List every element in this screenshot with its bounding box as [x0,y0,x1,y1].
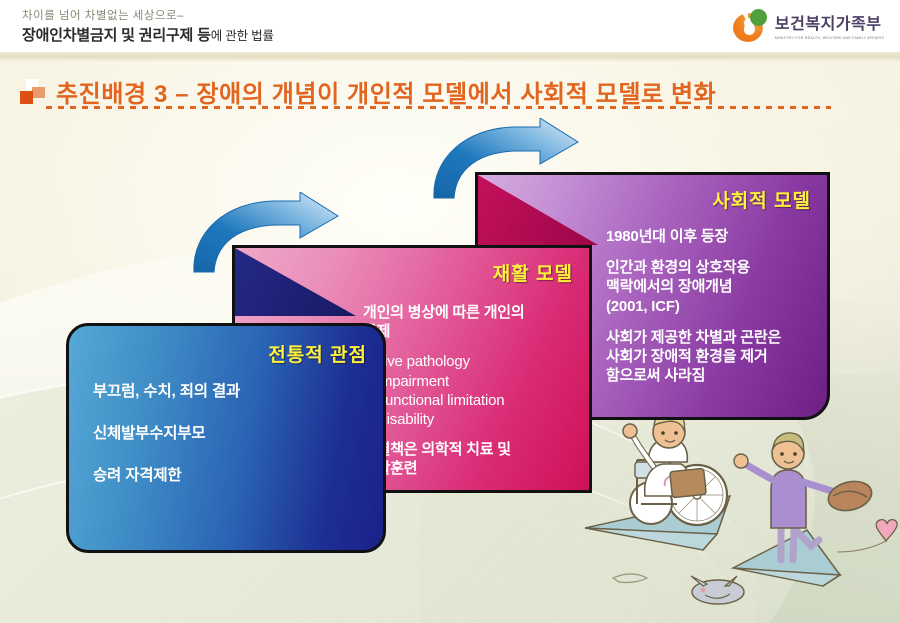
title-dashed-underline [46,106,831,109]
social-line-2b: 맥락에서의 장애개념 [606,277,824,296]
ground-mark [613,574,647,583]
social-line-3a: 사회가 제공한 차별과 곤란은 [606,328,824,347]
bullet-square-light [32,87,45,98]
card-traditional-title: 전통적 관점 [268,340,367,367]
rehab-pathology-item-2: ⇨ Functional limitation [363,391,587,410]
rehab-para-3: 해결책은 의학적 치료 및 재활훈련 [363,440,587,478]
header-separator-band [0,52,900,61]
social-line-2a: 인간과 환경의 상호작용 [606,258,824,277]
kite-shape [837,520,897,552]
orange-square-bullet-icon [18,79,46,105]
ministry-logo: 보건복지가족부 MINISTRY FOR HEALTH, WELFARE AND… [733,8,884,42]
rehab-line-1a: 개인의 병상에 따른 개인의 [363,303,587,322]
card-traditional-body: 부끄럼, 수치, 죄의 결과 신체발부수지부모 승려 자격제한 [93,382,375,507]
card-social-body: 1980년대 이후 등장 인간과 환경의 상호작용 맥락에서의 장애개념 (20… [606,227,824,397]
social-para-3: 사회가 제공한 차별과 곤란은 사회가 장애적 환경을 제거 함으로써 사라짐 [606,328,824,386]
curved-blue-arrow-icon [428,118,603,200]
social-line-3b: 사회가 장애적 환경을 제거 [606,347,824,366]
rehab-pathology-head: Active pathology [363,352,587,371]
social-para-2: 인간과 환경의 상호작용 맥락에서의 장애개념 (2001, ICF) [606,258,824,316]
header-law-title-light: 에 관한 법률 [211,29,274,43]
rehab-item-label-2: Functional limitation [376,392,504,409]
header-law-title-bold: 장애인차별금지 및 권리구제 등 [22,27,211,44]
card-rehab-title: 재활 모델 [493,259,573,286]
rehab-para-1: 개인의 병상에 따른 개인의 문제 [363,303,587,341]
rehab-item-label-1: Impairment [376,373,449,390]
toy-plane [691,576,744,604]
traditional-line-1: 부끄럼, 수치, 죄의 결과 [93,382,375,402]
curved-blue-arrow-icon [188,192,363,274]
rehab-para-2: Active pathology ⇨ Impairment ⇨ Function… [363,352,587,429]
ministry-logo-icon [733,8,767,42]
ministry-name-korean: 보건복지가족부 [775,10,884,34]
slide-header: 차이를 넘어 차별없는 세상으로– 장애인차별금지 및 권리구제 등에 관한 법… [0,0,900,52]
ministry-logo-text: 보건복지가족부 MINISTRY FOR HEALTH, WELFARE AND… [775,10,884,40]
header-law-title: 장애인차별금지 및 권리구제 등에 관한 법률 [22,24,274,45]
logo-green-circle [750,9,767,26]
social-para-1: 1980년대 이후 등장 [606,227,824,246]
social-line-3c: 함으로써 사라짐 [606,366,824,385]
traditional-line-3: 승려 자격제한 [93,466,375,486]
person-standing [734,433,875,560]
page-title: 추진배경 3 – 장애의 개념이 개인적 모델에서 사회적 모델로 변화 [56,74,716,109]
people-on-paper-planes-illustration [585,400,900,623]
rehab-pathology-item-1: ⇨ Impairment [363,372,587,391]
slide-title-row: 추진배경 3 – 장애의 개념이 개인적 모델에서 사회적 모델로 변화 [18,74,716,109]
rehab-line-3a: 해결책은 의학적 치료 및 [363,440,587,459]
card-rehab-body: 개인의 병상에 따른 개인의 문제 Active pathology ⇨ Imp… [363,303,587,490]
bullet-square-dark [20,91,33,104]
person-in-wheelchair [623,411,706,497]
card-traditional-perspective: 전통적 관점 부끄럼, 수치, 죄의 결과 신체발부수지부모 승려 자격제한 [66,323,386,553]
paper-plane-right [733,530,840,586]
ministry-name-english: MINISTRY FOR HEALTH, WELFARE AND FAMILY … [775,36,884,40]
traditional-line-2: 신체발부수지부모 [93,424,375,444]
card-social-title: 사회적 모델 [712,186,811,213]
rehab-line-1b: 문제 [363,322,587,341]
rehab-line-3b: 재활훈련 [363,459,587,478]
social-line-2c: (2001, ICF) [606,297,824,316]
presentation-slide: 차이를 넘어 차별없는 세상으로– 장애인차별금지 및 권리구제 등에 관한 법… [0,0,900,623]
header-tagline: 차이를 넘어 차별없는 세상으로– [22,7,184,23]
rehab-pathology-item-3: ⇨ Disability [363,410,587,429]
social-line-1: 1980년대 이후 등장 [606,227,824,246]
